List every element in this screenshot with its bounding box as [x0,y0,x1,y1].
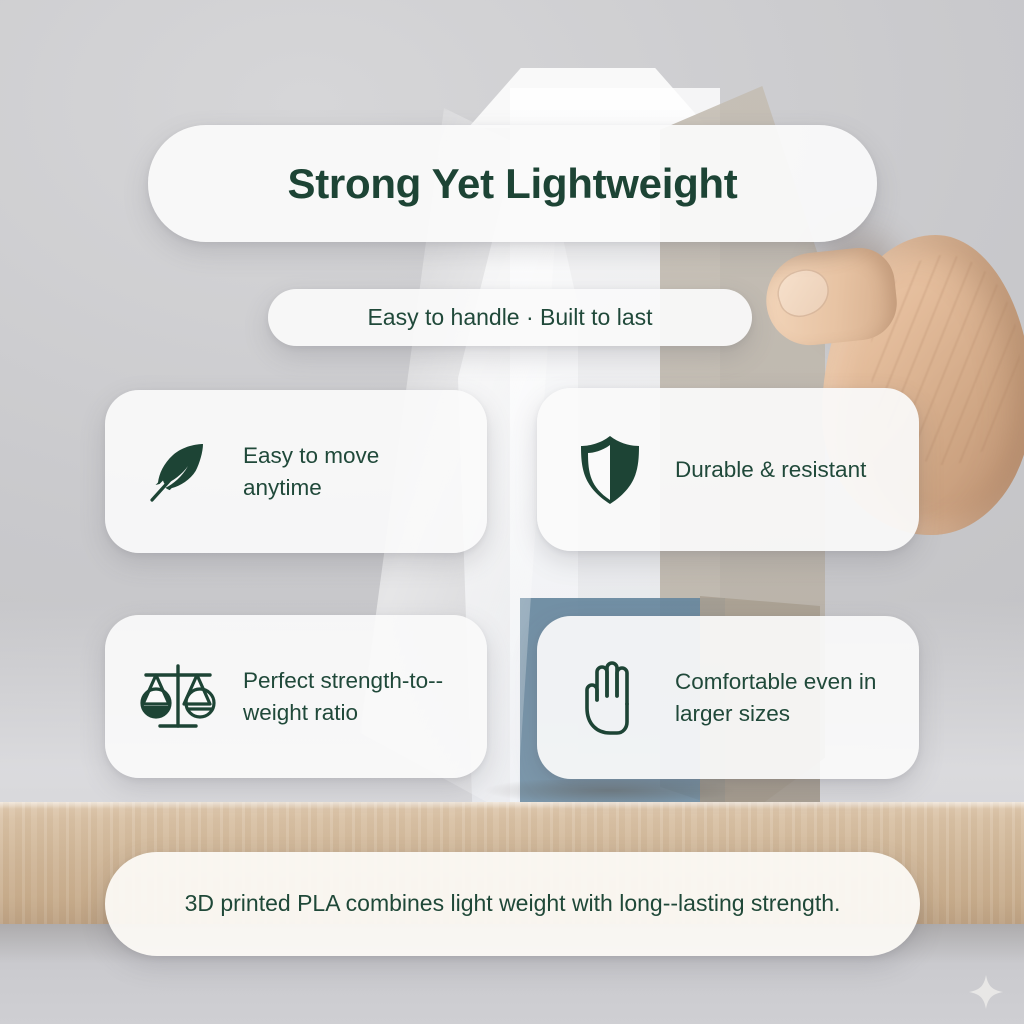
footer-banner: 3D printed PLA combines light weight wit… [105,852,920,956]
shelf-top-highlight [0,802,1024,809]
feature-card-durable[interactable]: Durable & resistant [537,388,919,551]
shield-icon [571,431,649,509]
feature-label: Comfortable even in larger sizes [675,666,893,730]
feature-card-comfortable[interactable]: Comfortable even in larger sizes [537,616,919,779]
hand-thumb [762,244,901,349]
sparkle-icon [966,972,1006,1012]
feather-icon [139,433,217,511]
feature-card-strength-to-weight[interactable]: Perfect strength-to--weight ratio [105,615,487,778]
feature-label: Durable & resistant [675,454,866,486]
page-subtitle: Easy to handle · Built to last [367,304,652,331]
title-pill: Strong Yet Lightweight [148,125,877,242]
feature-label: Easy to move anytime [243,440,461,504]
thumb-nail [772,263,836,323]
footer-text: 3D printed PLA combines light weight wit… [129,887,897,920]
feature-card-easy-to-move[interactable]: Easy to move anytime [105,390,487,553]
scales-icon [139,658,217,736]
subtitle-pill: Easy to handle · Built to last [268,289,752,346]
page-title: Strong Yet Lightweight [288,160,738,208]
hand-icon [571,659,649,737]
promo-graphic: Strong Yet Lightweight Easy to handle · … [0,0,1024,1024]
feature-label: Perfect strength-to--weight ratio [243,665,461,729]
